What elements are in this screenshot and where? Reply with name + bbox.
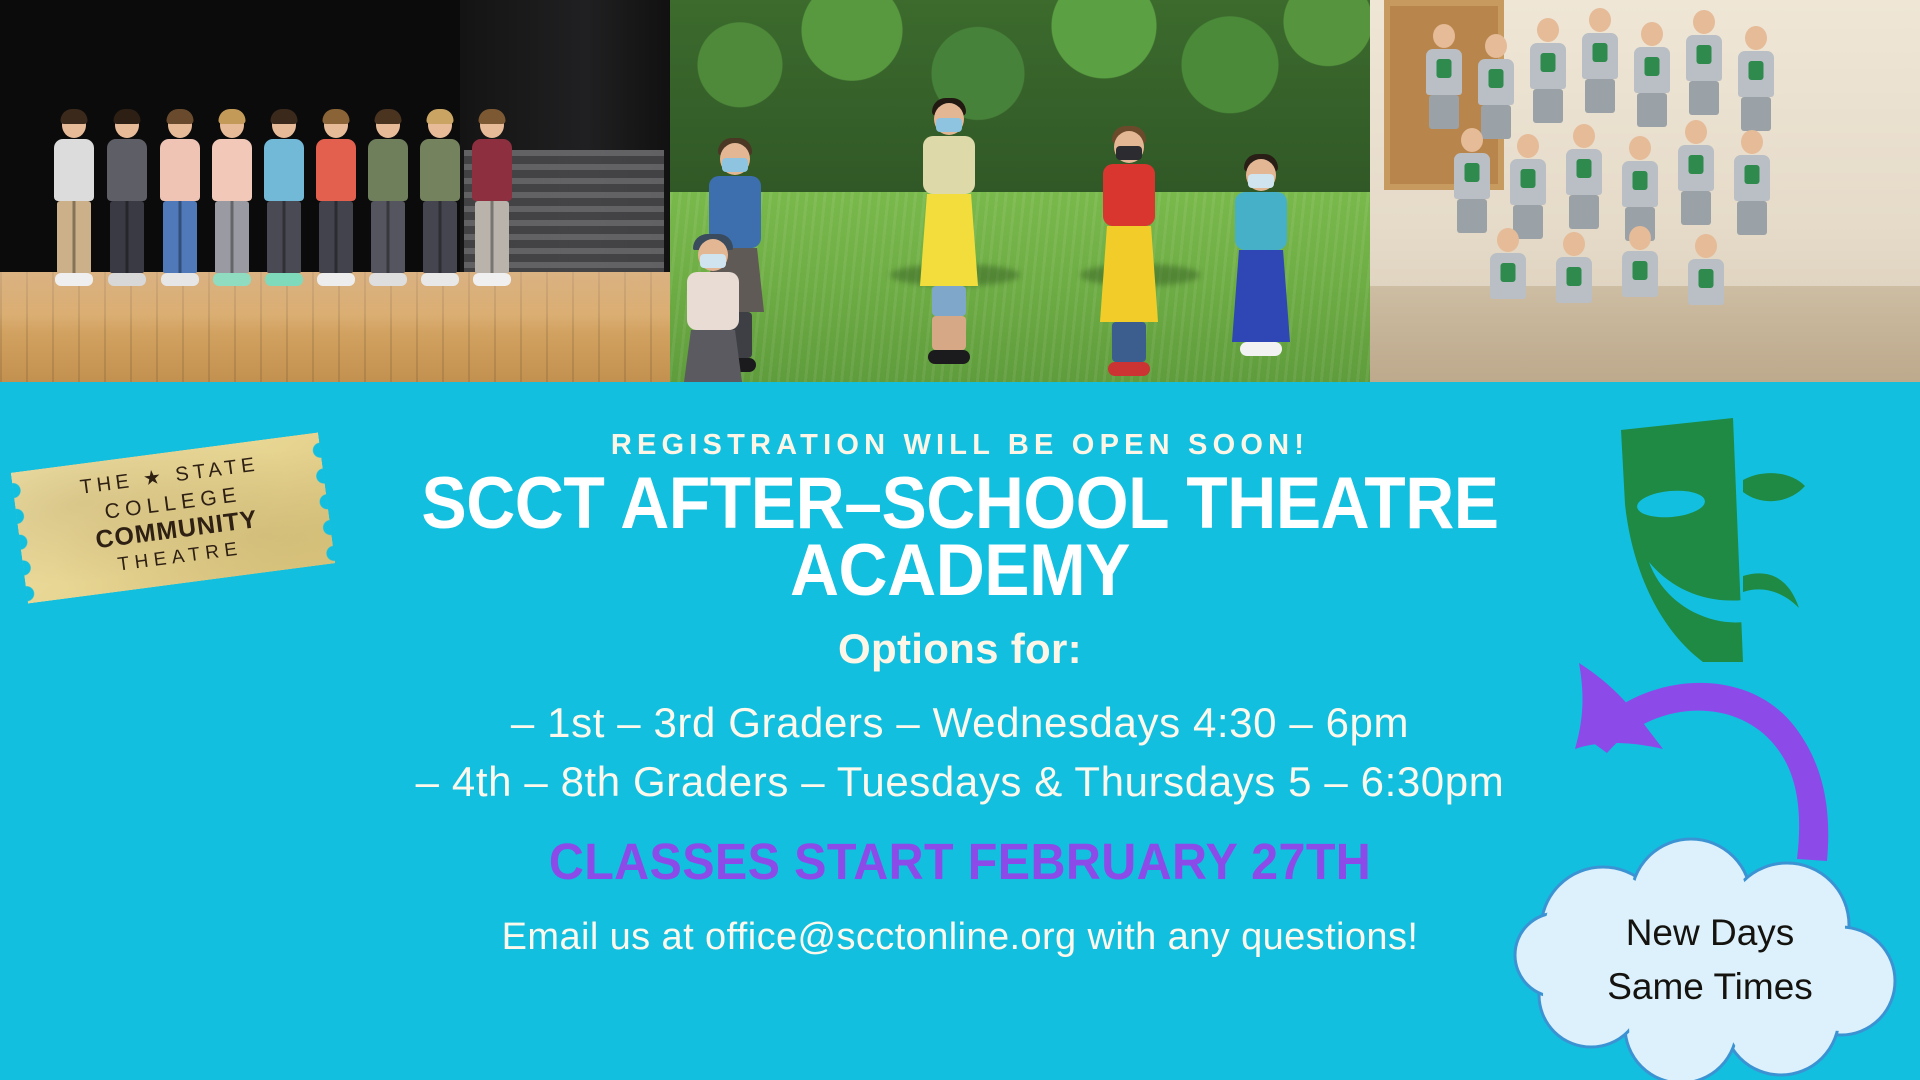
stage-kid xyxy=(470,112,514,286)
group-kid xyxy=(1530,18,1566,123)
outdoor-kid xyxy=(684,239,742,382)
stage-kid xyxy=(105,112,149,286)
cloud-callout-icon xyxy=(1495,837,1920,1080)
stage-kid xyxy=(52,112,96,286)
stage-performance-photo xyxy=(0,0,670,382)
group-kid xyxy=(1686,10,1722,115)
group-kid xyxy=(1426,24,1462,129)
outdoor-kid xyxy=(920,103,978,364)
room-floor xyxy=(1370,286,1920,382)
stage-kid xyxy=(418,112,462,286)
group-kid xyxy=(1556,232,1592,303)
group-kid xyxy=(1678,120,1714,225)
group-kid xyxy=(1582,8,1618,113)
page-title: SCCT AFTER–SCHOOL THEATRE ACADEMY xyxy=(374,470,1546,604)
group-kid xyxy=(1490,228,1526,299)
stage-kid xyxy=(210,112,254,286)
promo-poster: THE ★ STATE COLLEGE COMMUNITY THEATRE RE… xyxy=(0,0,1920,1080)
group-kid xyxy=(1566,124,1602,229)
theatre-comedy-mask-icon xyxy=(1583,412,1903,662)
group-tshirt-photo xyxy=(1370,0,1920,382)
stage-kid xyxy=(262,112,306,286)
outdoor-kid xyxy=(1232,159,1290,356)
stage-kid xyxy=(366,112,410,286)
outdoor-costume-photo xyxy=(670,0,1370,382)
group-kid xyxy=(1634,22,1670,127)
group-kid xyxy=(1454,128,1490,233)
group-kid xyxy=(1688,234,1724,305)
group-kid xyxy=(1622,226,1658,297)
group-kid xyxy=(1738,26,1774,131)
stage-floor xyxy=(0,272,670,382)
outdoor-kid xyxy=(1100,131,1158,376)
group-kid xyxy=(1478,34,1514,139)
info-panel: THE ★ STATE COLLEGE COMMUNITY THEATRE RE… xyxy=(0,382,1920,1080)
scct-logo[interactable]: THE ★ STATE COLLEGE COMMUNITY THEATRE xyxy=(18,452,348,602)
stage-kid xyxy=(158,112,202,286)
group-kid xyxy=(1734,130,1770,235)
stage-kid xyxy=(314,112,358,286)
group-kid xyxy=(1510,134,1546,239)
photo-band xyxy=(0,0,1920,382)
